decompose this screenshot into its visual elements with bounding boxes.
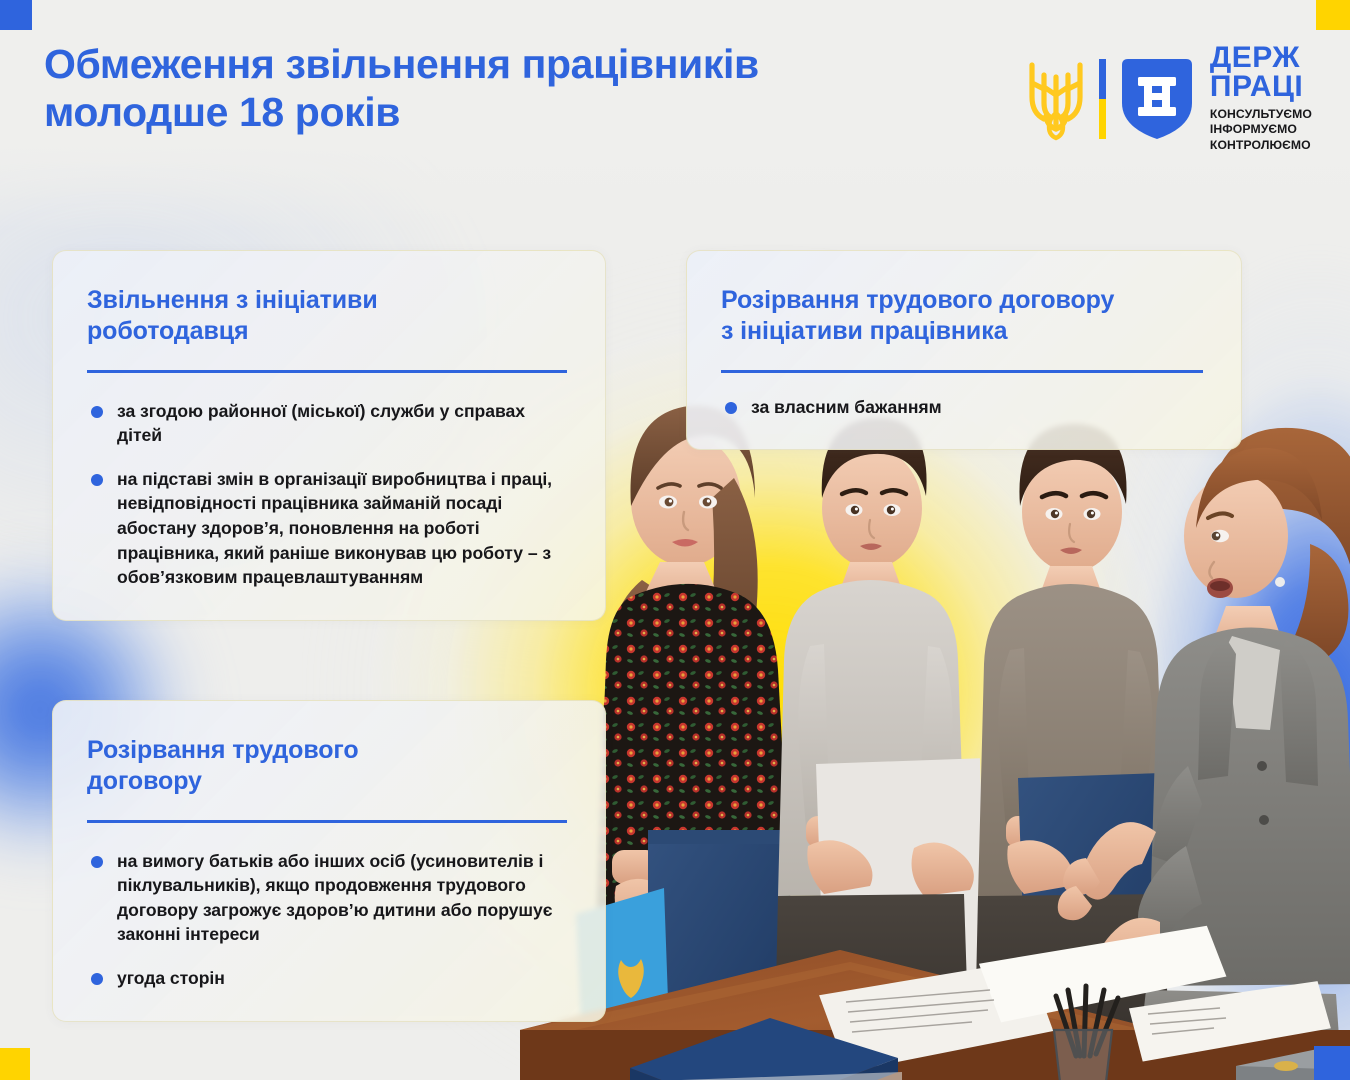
- logo-tagline-line-2: ІНФОРМУЄМО: [1210, 122, 1312, 138]
- card-termination-employee: Розірвання трудового договору з ініціати…: [686, 250, 1242, 450]
- list-item-text: угода сторін: [117, 968, 225, 988]
- bullet-dot-icon: [91, 406, 103, 418]
- corner-marker-bottom-right: [1314, 1046, 1350, 1080]
- infographic-poster: Обмеження звільнення працівників молодше…: [0, 0, 1350, 1080]
- list-item: за згодою районної (міської) служби у сп…: [87, 399, 567, 448]
- ukraine-trident-icon: [1025, 57, 1087, 141]
- bullet-dot-icon: [91, 474, 103, 486]
- logo-word-pratsi: ПРАЦІ: [1210, 73, 1312, 102]
- card-termination-contract: Розірвання трудового договору на вимогу …: [52, 700, 606, 1022]
- bullet-dot-icon: [725, 402, 737, 414]
- derzhpratsi-logo: ДЕРЖ ПРАЦІ КОНСУЛЬТУЄМО ІНФОРМУЄМО КОНТР…: [1025, 44, 1312, 153]
- card-divider: [721, 370, 1203, 373]
- list-item: на підставі змін в організації виробницт…: [87, 467, 567, 590]
- poster-header: Обмеження звільнення працівників молодше…: [0, 0, 1350, 190]
- card-divider: [87, 370, 567, 373]
- list-item-text: за власним бажанням: [751, 397, 942, 417]
- logo-tagline-line-3: КОНТРОЛЮЄМО: [1210, 138, 1312, 154]
- card-title: Звільнення з ініціативи роботодавця: [87, 285, 567, 348]
- page-title: Обмеження звільнення працівників молодше…: [44, 40, 759, 137]
- list-item: на вимогу батьків або інших осіб (усинов…: [87, 849, 567, 948]
- bullet-list: на вимогу батьків або інших осіб (усинов…: [87, 849, 567, 991]
- bullet-list: за згодою районної (міської) служби у сп…: [87, 399, 567, 590]
- bullet-dot-icon: [91, 973, 103, 985]
- bullet-list: за власним бажанням: [721, 395, 1203, 420]
- card-dismissal-employer: Звільнення з ініціативи роботодавця за з…: [52, 250, 606, 621]
- list-item: за власним бажанням: [721, 395, 1203, 420]
- card-title: Розірвання трудового договору: [87, 735, 567, 798]
- list-item-text: на підставі змін в організації виробницт…: [117, 469, 552, 588]
- logo-tagline: КОНСУЛЬТУЄМО ІНФОРМУЄМО КОНТРОЛЮЄМО: [1210, 107, 1312, 154]
- card-title: Розірвання трудового договору з ініціати…: [721, 285, 1203, 348]
- logo-tagline-line-1: КОНСУЛЬТУЄМО: [1210, 107, 1312, 123]
- logo-word-derzh: ДЕРЖ: [1210, 44, 1312, 73]
- card-divider: [87, 820, 567, 823]
- derzhpratsi-shield-icon: [1118, 55, 1196, 143]
- logo-divider: [1099, 59, 1106, 139]
- list-item-text: за згодою районної (міської) служби у сп…: [117, 401, 525, 446]
- list-item: угода сторін: [87, 966, 567, 991]
- logo-wordmark: ДЕРЖ ПРАЦІ КОНСУЛЬТУЄМО ІНФОРМУЄМО КОНТР…: [1210, 44, 1312, 153]
- bullet-dot-icon: [91, 856, 103, 868]
- list-item-text: на вимогу батьків або інших осіб (усинов…: [117, 851, 552, 945]
- corner-marker-bottom-left: [0, 1048, 30, 1080]
